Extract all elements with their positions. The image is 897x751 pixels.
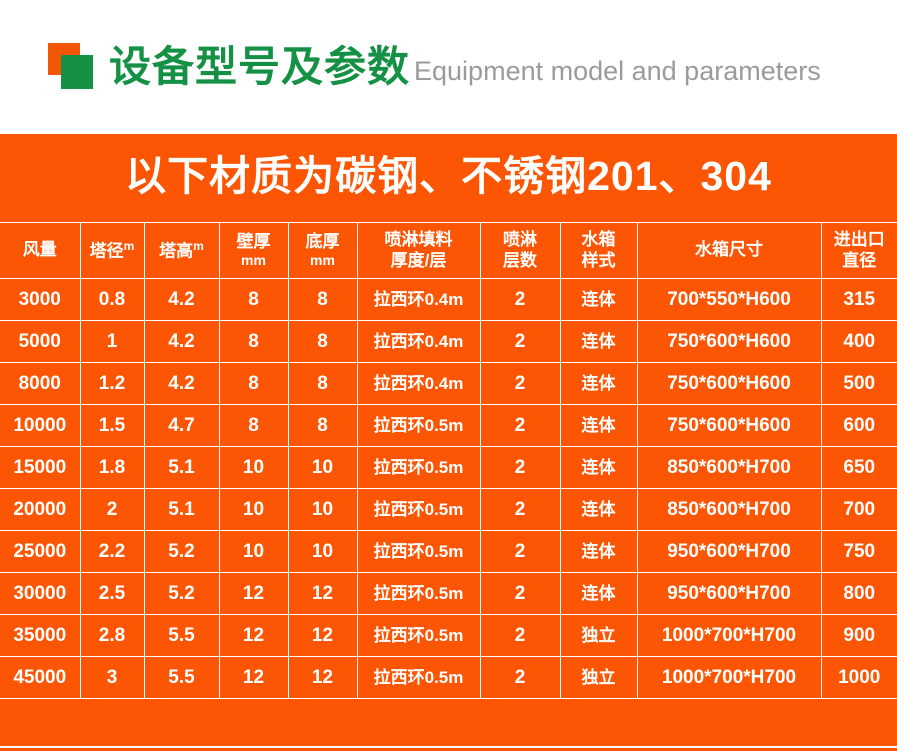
column-header-tower-height: 塔高m xyxy=(144,223,219,279)
cell-bottom-thickness: 8 xyxy=(288,321,357,363)
cell-spray-layers: 2 xyxy=(480,657,560,699)
cell-bottom-thickness: 12 xyxy=(288,573,357,615)
column-header-bottom-thickness: 底厚mm xyxy=(288,223,357,279)
cell-tower-diameter: 1 xyxy=(80,321,144,363)
cell-bottom-thickness: 10 xyxy=(288,531,357,573)
column-header-airflow: 风量 xyxy=(0,223,80,279)
cell-bottom-thickness: 12 xyxy=(288,657,357,699)
cell-tower-diameter: 1.2 xyxy=(80,363,144,405)
cell-bottom-thickness: 8 xyxy=(288,405,357,447)
cell-airflow: 3000 xyxy=(0,279,80,321)
cell-tank-style: 连体 xyxy=(560,531,637,573)
cell-tank-size: 750*600*H600 xyxy=(637,405,821,447)
cell-tower-height: 4.2 xyxy=(144,279,219,321)
cell-wall-thickness: 8 xyxy=(219,321,288,363)
table-row: 4500035.51212拉西环0.5m2独立1000*700*H7001000 xyxy=(0,657,897,699)
cell-bottom-thickness: 12 xyxy=(288,615,357,657)
cell-inlet-outlet-diameter: 900 xyxy=(821,615,897,657)
cell-tank-style: 独立 xyxy=(560,657,637,699)
header-label: 壁厚 xyxy=(237,232,271,251)
header-label-line2: 层数 xyxy=(481,251,560,271)
table-row: 300002.55.21212拉西环0.5m2连体950*600*H700800 xyxy=(0,573,897,615)
cell-wall-thickness: 12 xyxy=(219,657,288,699)
cell-wall-thickness: 12 xyxy=(219,615,288,657)
header-label: 进出口 xyxy=(822,230,897,250)
cell-wall-thickness: 8 xyxy=(219,405,288,447)
page-root: 设备型号及参数 Equipment model and parameters 以… xyxy=(0,0,897,751)
header-label-line2: 厚度/层 xyxy=(358,251,480,271)
column-header-tank-size: 水箱尺寸 xyxy=(637,223,821,279)
cell-wall-thickness: 8 xyxy=(219,279,288,321)
header-row: 风量 塔径m 塔高m 壁厚mm 底厚mm 喷淋填料厚度/层 喷淋层数 水箱样式 … xyxy=(0,223,897,279)
cell-inlet-outlet-diameter: 315 xyxy=(821,279,897,321)
table-row: 2000025.11010拉西环0.5m2连体850*600*H700700 xyxy=(0,489,897,531)
cell-spray-packing: 拉西环0.5m xyxy=(357,573,480,615)
page-title-cn: 设备型号及参数 xyxy=(109,46,410,88)
cell-inlet-outlet-diameter: 750 xyxy=(821,531,897,573)
cell-tower-diameter: 3 xyxy=(80,657,144,699)
header-label: 底厚 xyxy=(306,232,340,251)
cell-spray-packing: 拉西环0.5m xyxy=(357,657,480,699)
column-header-inlet-outlet-diameter: 进出口直径 xyxy=(821,223,897,279)
spec-table-body: 30000.84.288拉西环0.4m2连体700*550*H600315500… xyxy=(0,279,897,699)
cell-tower-diameter: 2.5 xyxy=(80,573,144,615)
table-row: 150001.85.11010拉西环0.5m2连体850*600*H700650 xyxy=(0,447,897,489)
cell-tower-diameter: 1.8 xyxy=(80,447,144,489)
column-header-tower-diameter: 塔径m xyxy=(80,223,144,279)
header-unit-sup: m xyxy=(124,239,135,253)
header-label: 喷淋 xyxy=(481,230,560,250)
cell-spray-packing: 拉西环0.5m xyxy=(357,531,480,573)
cell-tower-height: 4.7 xyxy=(144,405,219,447)
column-header-tank-style: 水箱样式 xyxy=(560,223,637,279)
cell-bottom-thickness: 10 xyxy=(288,489,357,531)
table-row: 80001.24.288拉西环0.4m2连体750*600*H600500 xyxy=(0,363,897,405)
column-header-wall-thickness: 壁厚mm xyxy=(219,223,288,279)
cell-spray-layers: 2 xyxy=(480,447,560,489)
cell-inlet-outlet-diameter: 800 xyxy=(821,573,897,615)
cell-spray-layers: 2 xyxy=(480,279,560,321)
header-label: 风量 xyxy=(23,240,57,259)
cell-airflow: 35000 xyxy=(0,615,80,657)
cell-wall-thickness: 10 xyxy=(219,531,288,573)
cell-wall-thickness: 8 xyxy=(219,363,288,405)
cell-spray-layers: 2 xyxy=(480,573,560,615)
cell-bottom-thickness: 8 xyxy=(288,363,357,405)
cell-tank-size: 850*600*H700 xyxy=(637,489,821,531)
cell-airflow: 8000 xyxy=(0,363,80,405)
header-unit-sup: m xyxy=(193,239,204,253)
cell-tower-height: 4.2 xyxy=(144,363,219,405)
page-header: 设备型号及参数 Equipment model and parameters xyxy=(0,0,897,134)
logo-square-green-icon xyxy=(61,55,93,89)
cell-airflow: 15000 xyxy=(0,447,80,489)
cell-tank-style: 连体 xyxy=(560,321,637,363)
header-unit: mm xyxy=(289,252,357,268)
header-unit: mm xyxy=(220,252,288,268)
header-label-line2: 直径 xyxy=(822,251,897,271)
cell-tank-size: 1000*700*H700 xyxy=(637,615,821,657)
cell-tank-size: 950*600*H700 xyxy=(637,573,821,615)
table-row: 100001.54.788拉西环0.5m2连体750*600*H600600 xyxy=(0,405,897,447)
header-label: 喷淋填料 xyxy=(358,230,480,250)
cell-spray-packing: 拉西环0.4m xyxy=(357,279,480,321)
cell-spray-packing: 拉西环0.5m xyxy=(357,489,480,531)
cell-spray-layers: 2 xyxy=(480,405,560,447)
material-banner: 以下材质为碳钢、不锈钢201、304 xyxy=(0,134,897,219)
cell-wall-thickness: 10 xyxy=(219,489,288,531)
cell-tank-style: 连体 xyxy=(560,573,637,615)
cell-spray-packing: 拉西环0.4m xyxy=(357,363,480,405)
cell-tower-height: 5.5 xyxy=(144,657,219,699)
header-label: 水箱尺寸 xyxy=(695,240,763,259)
header-label-line2: 样式 xyxy=(561,251,637,271)
cell-tower-height: 5.1 xyxy=(144,447,219,489)
cell-tower-diameter: 2.2 xyxy=(80,531,144,573)
cell-airflow: 45000 xyxy=(0,657,80,699)
cell-inlet-outlet-diameter: 500 xyxy=(821,363,897,405)
cell-tower-diameter: 0.8 xyxy=(80,279,144,321)
cell-spray-packing: 拉西环0.4m xyxy=(357,321,480,363)
material-banner-text: 以下材质为碳钢、不锈钢201、304 xyxy=(125,156,772,197)
table-row: 350002.85.51212拉西环0.5m2独立1000*700*H70090… xyxy=(0,615,897,657)
cell-tank-size: 750*600*H600 xyxy=(637,321,821,363)
cell-tower-height: 5.2 xyxy=(144,573,219,615)
bottom-divider xyxy=(0,746,897,748)
column-header-spray-packing-thickness: 喷淋填料厚度/层 xyxy=(357,223,480,279)
cell-airflow: 25000 xyxy=(0,531,80,573)
cell-wall-thickness: 10 xyxy=(219,447,288,489)
cell-tower-height: 5.1 xyxy=(144,489,219,531)
cell-tank-style: 独立 xyxy=(560,615,637,657)
logo-mark xyxy=(48,43,103,91)
column-header-spray-layers: 喷淋层数 xyxy=(480,223,560,279)
cell-spray-packing: 拉西环0.5m xyxy=(357,405,480,447)
spec-table-header: 风量 塔径m 塔高m 壁厚mm 底厚mm 喷淋填料厚度/层 喷淋层数 水箱样式 … xyxy=(0,223,897,279)
table-row: 250002.25.21010拉西环0.5m2连体950*600*H700750 xyxy=(0,531,897,573)
cell-airflow: 20000 xyxy=(0,489,80,531)
cell-inlet-outlet-diameter: 600 xyxy=(821,405,897,447)
cell-tank-style: 连体 xyxy=(560,363,637,405)
cell-tank-style: 连体 xyxy=(560,489,637,531)
cell-wall-thickness: 12 xyxy=(219,573,288,615)
table-row: 30000.84.288拉西环0.4m2连体700*550*H600315 xyxy=(0,279,897,321)
table-row: 500014.288拉西环0.4m2连体750*600*H600400 xyxy=(0,321,897,363)
cell-tower-diameter: 2.8 xyxy=(80,615,144,657)
cell-inlet-outlet-diameter: 700 xyxy=(821,489,897,531)
cell-tank-size: 850*600*H700 xyxy=(637,447,821,489)
cell-inlet-outlet-diameter: 1000 xyxy=(821,657,897,699)
cell-tank-style: 连体 xyxy=(560,405,637,447)
cell-airflow: 10000 xyxy=(0,405,80,447)
cell-inlet-outlet-diameter: 650 xyxy=(821,447,897,489)
cell-inlet-outlet-diameter: 400 xyxy=(821,321,897,363)
cell-tank-size: 700*550*H600 xyxy=(637,279,821,321)
cell-spray-layers: 2 xyxy=(480,363,560,405)
cell-spray-packing: 拉西环0.5m xyxy=(357,615,480,657)
cell-tank-size: 750*600*H600 xyxy=(637,363,821,405)
header-label: 水箱 xyxy=(561,230,637,250)
header-label: 塔高 xyxy=(159,242,193,261)
cell-tower-height: 5.2 xyxy=(144,531,219,573)
spec-table-zone: 风量 塔径m 塔高m 壁厚mm 底厚mm 喷淋填料厚度/层 喷淋层数 水箱样式 … xyxy=(0,219,897,751)
cell-airflow: 30000 xyxy=(0,573,80,615)
cell-spray-layers: 2 xyxy=(480,615,560,657)
cell-airflow: 5000 xyxy=(0,321,80,363)
page-title-en: Equipment model and parameters xyxy=(414,58,821,85)
cell-tower-diameter: 1.5 xyxy=(80,405,144,447)
cell-spray-packing: 拉西环0.5m xyxy=(357,447,480,489)
cell-tank-style: 连体 xyxy=(560,279,637,321)
cell-spray-layers: 2 xyxy=(480,489,560,531)
cell-tank-size: 950*600*H700 xyxy=(637,531,821,573)
spec-table: 风量 塔径m 塔高m 壁厚mm 底厚mm 喷淋填料厚度/层 喷淋层数 水箱样式 … xyxy=(0,222,897,699)
cell-tower-diameter: 2 xyxy=(80,489,144,531)
cell-bottom-thickness: 8 xyxy=(288,279,357,321)
cell-tower-height: 5.5 xyxy=(144,615,219,657)
cell-bottom-thickness: 10 xyxy=(288,447,357,489)
header-label: 塔径 xyxy=(90,242,124,261)
cell-tank-style: 连体 xyxy=(560,447,637,489)
cell-spray-layers: 2 xyxy=(480,531,560,573)
cell-tank-size: 1000*700*H700 xyxy=(637,657,821,699)
cell-spray-layers: 2 xyxy=(480,321,560,363)
cell-tower-height: 4.2 xyxy=(144,321,219,363)
